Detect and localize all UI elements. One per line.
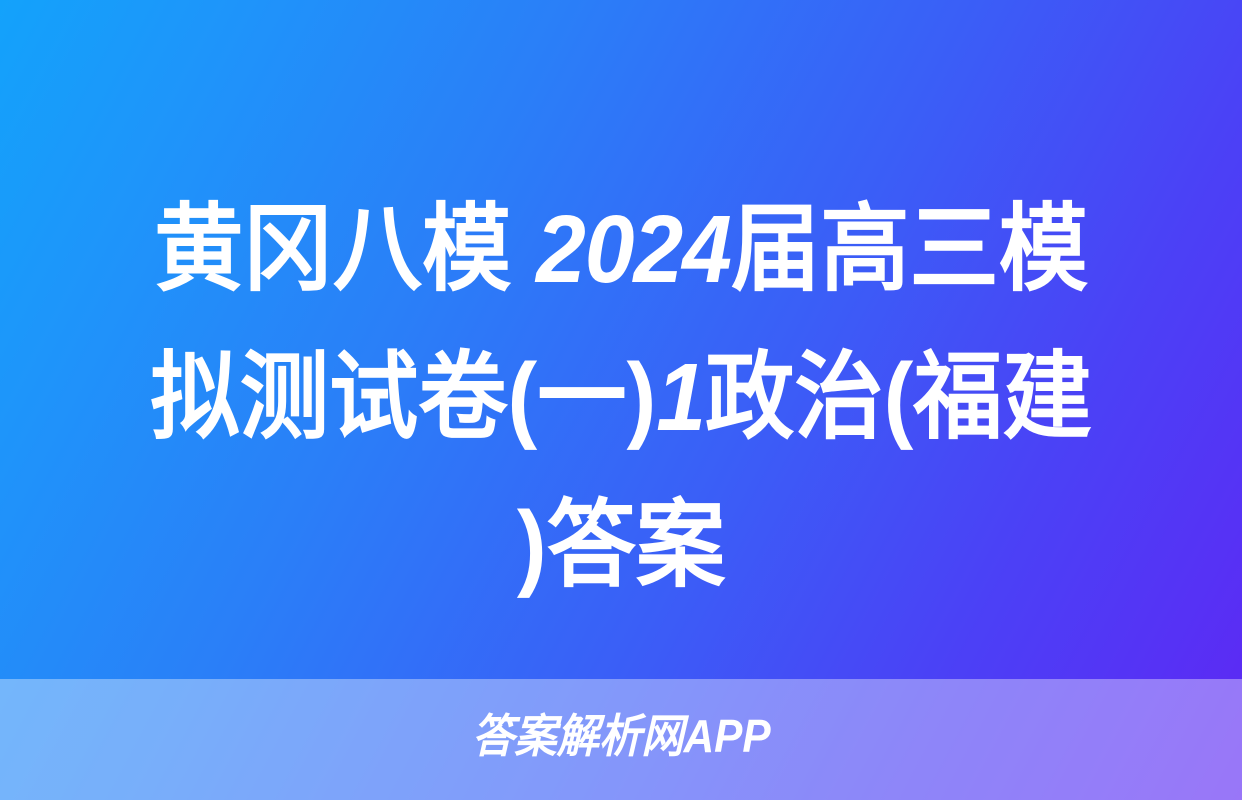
title-line-2-han-suffix: 政治(福建 (705, 344, 1092, 451)
title-line-2-paper-number: 1 (656, 344, 705, 451)
share-card: 黄冈八模 2024届高三模 拟测试卷(一)1政治(福建 )答案 答案解析网APP (0, 0, 1242, 800)
title-line-2-han-prefix: 拟测试卷(一) (150, 344, 656, 451)
title-line-1-year: 2024 (536, 196, 731, 303)
bottom-overlay-band (0, 679, 1242, 800)
page-title: 黄冈八模 2024届高三模 拟测试卷(一)1政治(福建 )答案 (62, 168, 1180, 628)
title-line-1-han-prefix: 黄冈八模 (154, 196, 536, 303)
title-line-1-han-suffix: 届高三模 (731, 196, 1088, 303)
title-line-1: 黄冈八模 2024届高三模 (154, 176, 1088, 324)
title-line-3-han: )答案 (517, 492, 725, 599)
title-line-3: )答案 (517, 472, 725, 620)
title-line-2: 拟测试卷(一)1政治(福建 (150, 324, 1091, 472)
